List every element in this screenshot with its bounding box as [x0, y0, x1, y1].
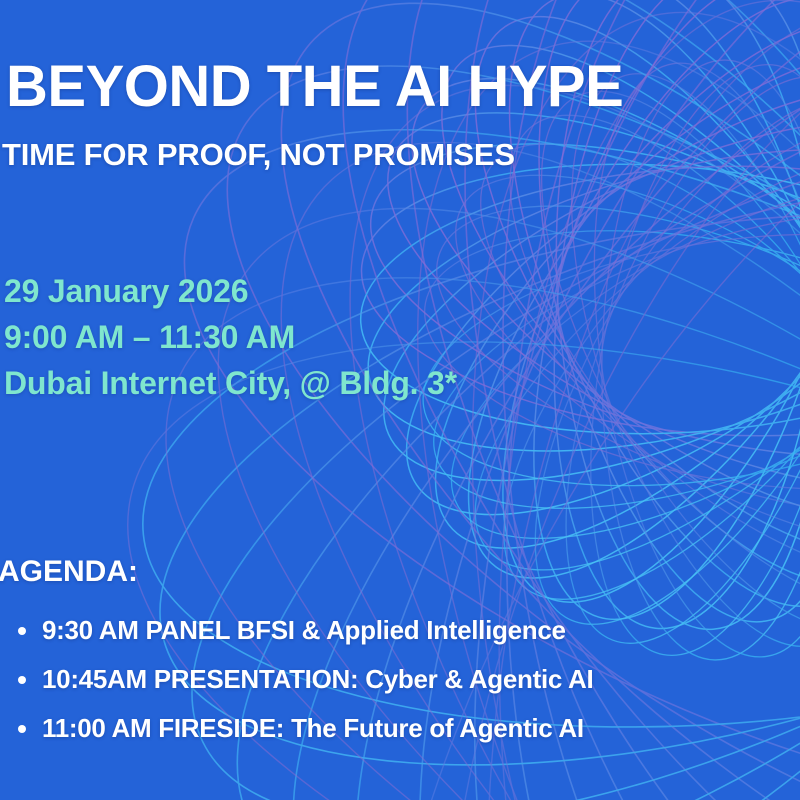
event-venue: Dubai Internet City, @ Bldg. 3* [4, 360, 457, 406]
agenda-item-label: 11:00 AM FIRESIDE: The Future of Agentic… [42, 713, 584, 743]
agenda-item: 10:45AM PRESENTATION: Cyber & Agentic AI [0, 659, 593, 708]
event-details: 29 January 2026 9:00 AM – 11:30 AM Dubai… [4, 268, 457, 406]
bullet-icon [18, 676, 26, 684]
event-date: 29 January 2026 [4, 268, 457, 314]
event-time: 9:00 AM – 11:30 AM [4, 314, 457, 360]
bullet-icon [18, 627, 26, 635]
page-title: BEYOND THE AI HYPE [6, 58, 623, 116]
bullet-icon [18, 725, 26, 733]
event-poster: BEYOND THE AI HYPE TIME FOR PROOF, NOT P… [0, 0, 800, 800]
agenda-item-label: 10:45AM PRESENTATION: Cyber & Agentic AI [42, 664, 593, 694]
agenda-item: 9:30 AM PANEL BFSI & Applied Intelligenc… [0, 610, 593, 659]
agenda-heading: AGENDA: [0, 557, 138, 587]
poster-content: BEYOND THE AI HYPE TIME FOR PROOF, NOT P… [0, 0, 800, 800]
agenda-item-label: 9:30 AM PANEL BFSI & Applied Intelligenc… [42, 615, 566, 645]
page-subtitle: TIME FOR PROOF, NOT PROMISES [2, 139, 515, 170]
agenda-item: 11:00 AM FIRESIDE: The Future of Agentic… [0, 708, 593, 757]
agenda-list: 9:30 AM PANEL BFSI & Applied Intelligenc… [0, 610, 593, 757]
